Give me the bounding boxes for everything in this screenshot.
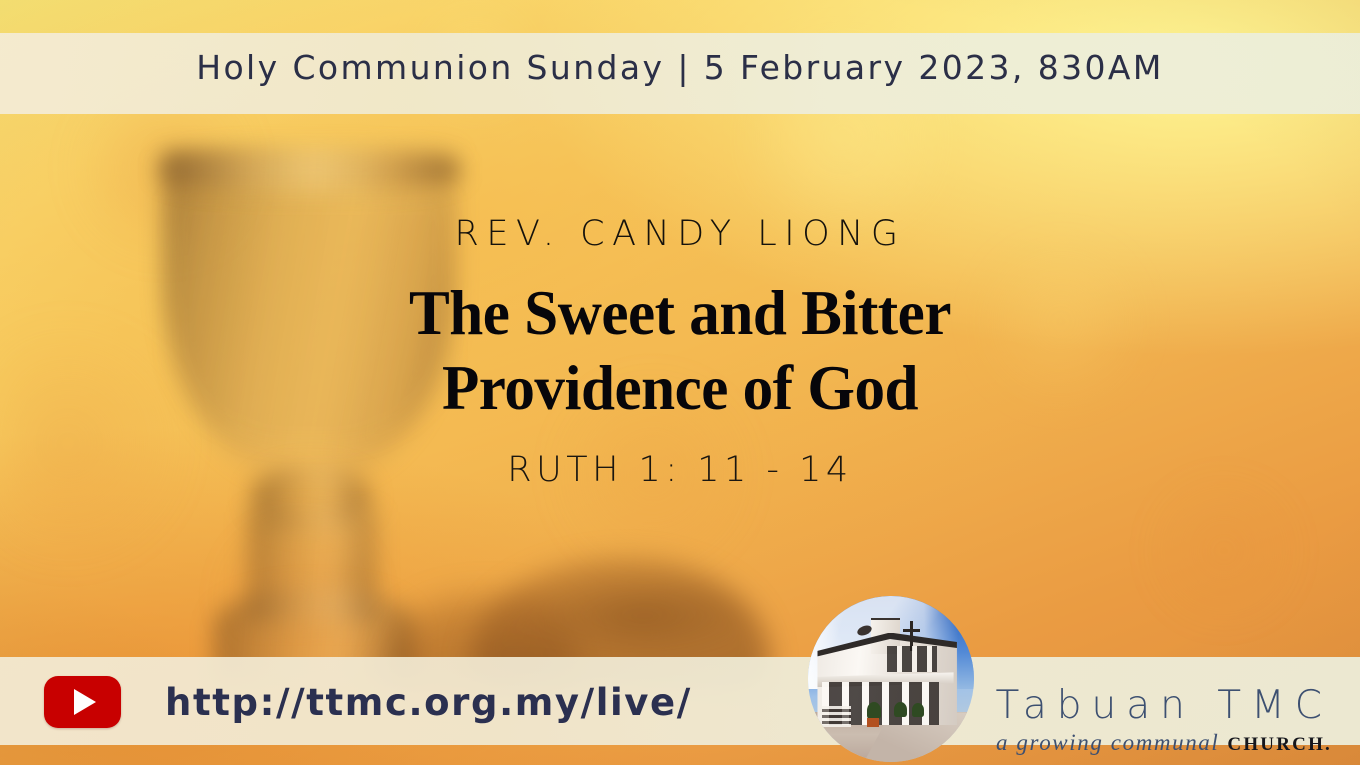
church-tagline-italic: a growing communal xyxy=(996,730,1219,755)
brand-wordmark: Tabuan TMC a growing communalCHURCH. xyxy=(996,684,1332,756)
church-tagline-caps: CHURCH. xyxy=(1227,734,1332,755)
service-header-title: Holy Communion Sunday | 5 February 2023,… xyxy=(0,48,1360,87)
sermon-title: The Sweet and Bitter Providence of God xyxy=(311,276,1048,426)
sermon-title-line-1: The Sweet and Bitter xyxy=(311,276,1048,351)
church-building-photo xyxy=(808,596,974,762)
sermon-details: REV. CANDY LIONG The Sweet and Bitter Pr… xyxy=(300,214,1060,490)
livestream-url[interactable]: http://ttmc.org.my/live/ xyxy=(165,681,692,724)
sermon-slide: Holy Communion Sunday | 5 February 2023,… xyxy=(0,0,1360,765)
sermon-title-line-2: Providence of God xyxy=(311,351,1048,426)
scripture-reference: RUTH 1: 11 - 14 xyxy=(300,450,1060,490)
livestream-link[interactable]: http://ttmc.org.my/live/ xyxy=(44,676,692,728)
speaker-name: REV. CANDY LIONG xyxy=(300,214,1060,254)
church-brand-block: Tabuan TMC a growing communalCHURCH. xyxy=(808,592,1332,764)
church-tagline: a growing communalCHURCH. xyxy=(996,730,1332,756)
youtube-play-icon[interactable] xyxy=(44,676,121,728)
church-name: Tabuan TMC xyxy=(996,684,1332,728)
